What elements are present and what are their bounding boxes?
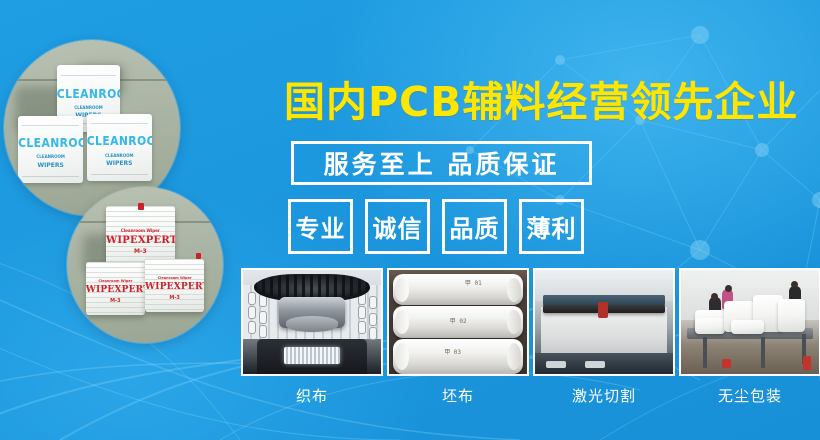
feature-tag-row: 专业 诚信 品质 薄利: [288, 199, 584, 254]
product-photo-wipexperts: Cleanroom Wiper WIPEXPERTS M-3 Cleanroom…: [67, 187, 223, 343]
feature-tag-label: 专业: [296, 209, 346, 244]
feature-tag-professional[interactable]: 专业: [288, 199, 353, 254]
pack-sub1-label: CLEANROOM: [57, 105, 120, 110]
pack-sub1-label: CLEANROOM: [87, 153, 152, 158]
bale-brand-label: WIPEXPERTS: [86, 285, 145, 295]
fabric-rolls-photo: 甲 01 甲 02 甲 03: [387, 268, 529, 376]
process-photo-caption: 无尘包装: [679, 385, 820, 406]
process-photo-caption: 坯布: [387, 385, 529, 406]
pack-sub2-label: WIPERS: [87, 160, 152, 167]
wipexperts-bale: Cleanroom Wiper WIPEXPERTS M-3: [145, 259, 204, 312]
roll-label: 甲 02: [450, 316, 467, 325]
feature-tag-low-profit[interactable]: 薄利: [519, 199, 584, 254]
cleanroom-packing-photo: [679, 268, 820, 376]
feature-tag-quality[interactable]: 品质: [442, 199, 507, 254]
bale-brand-label: WIPEXPERTS: [106, 235, 175, 246]
promo-banner: CLEANROOM CLEANROOM WIPERS CLEANROOM CLE…: [0, 0, 820, 440]
process-photo-caption: 激光切割: [533, 385, 675, 406]
banner-headline: 国内PCB辅料经营领先企业: [284, 74, 794, 130]
process-photo-cell[interactable]: 激光切割: [533, 268, 675, 413]
pack-brand-label: CLEANROOM: [87, 134, 152, 148]
bale-brand-label: WIPEXPERTS: [145, 282, 204, 292]
process-photo-cell[interactable]: 无尘包装: [679, 268, 820, 413]
process-photo-caption: 织布: [241, 385, 383, 406]
cleanroom-pack: CLEANROOM CLEANROOM WIPERS: [87, 114, 152, 181]
process-photo-strip: 织布 甲 01 甲 02 甲 03 坯布: [241, 268, 819, 413]
pack-sub1-label: CLEANROOM: [18, 154, 83, 159]
roll-label: 甲 03: [444, 347, 461, 356]
feature-tag-label: 薄利: [527, 209, 577, 244]
bale-top-label: Cleanroom Wiper: [106, 228, 175, 233]
banner-subtitle-box: 服务至上 品质保证: [291, 141, 592, 185]
feature-tag-label: 品质: [450, 209, 500, 244]
pack-sub2-label: WIPERS: [18, 162, 83, 169]
pack-brand-label: CLEANROOM: [18, 136, 83, 150]
process-photo-cell[interactable]: 甲 01 甲 02 甲 03 坯布: [387, 268, 529, 413]
bale-top-label: Cleanroom Wiper: [145, 276, 204, 280]
feature-tag-label: 诚信: [373, 209, 423, 244]
laser-cutting-photo: [533, 268, 675, 376]
bale-top-label: Cleanroom Wiper: [86, 279, 145, 283]
wipexperts-bale: Cleanroom Wiper WIPEXPERTS M-3: [86, 262, 145, 315]
roll-label: 甲 01: [465, 278, 482, 287]
bale-sub-label: M-3: [145, 295, 204, 301]
bale-sub-label: M-3: [106, 248, 175, 255]
knitting-machine-photo: [241, 268, 383, 376]
bale-sub-label: M-3: [86, 298, 145, 304]
process-photo-cell[interactable]: 织布: [241, 268, 383, 413]
cleanroom-pack: CLEANROOM CLEANROOM WIPERS: [18, 116, 83, 183]
feature-tag-integrity[interactable]: 诚信: [365, 199, 430, 254]
pack-brand-label: CLEANROOM: [57, 87, 120, 101]
banner-subtitle-text: 服务至上 品质保证: [324, 145, 560, 181]
